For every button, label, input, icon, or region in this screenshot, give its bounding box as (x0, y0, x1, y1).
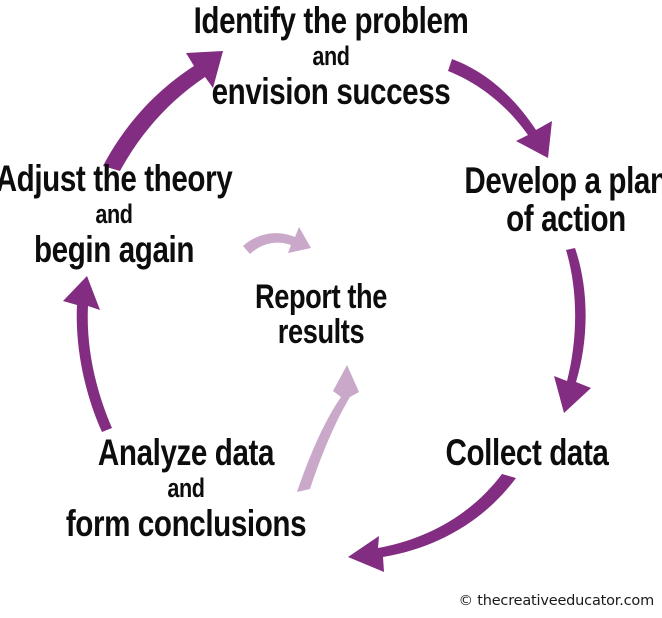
step-report-sub: results (177, 315, 465, 350)
arrow-collect-to-analyze (348, 474, 516, 572)
arrow-analyze-to-adjust (63, 276, 112, 432)
step-analyze-sub: form conclusions (10, 505, 362, 543)
step-identify-main: Identify the problem (123, 2, 539, 40)
step-label-collect: Collect data (367, 434, 662, 472)
step-adjust-sub: begin again (0, 231, 306, 269)
step-label-analyze: Analyze data and form conclusions (10, 434, 362, 544)
step-analyze-conj: and (10, 472, 362, 505)
arrow-develop-to-collect (554, 248, 591, 413)
step-label-adjust: Adjust the theory and begin again (0, 160, 306, 270)
step-develop-main: Develop a plan (394, 162, 662, 200)
step-adjust-main: Adjust the theory (0, 160, 306, 198)
copyright-notice: © thecreativeeducator.com (459, 593, 654, 609)
step-develop-sub: of action (394, 200, 662, 238)
diagram-canvas: Identify the problem and envision succes… (0, 0, 662, 618)
step-report-main: Report the (177, 280, 465, 315)
step-identify-conj: and (123, 40, 539, 73)
step-label-develop: Develop a plan of action (394, 162, 662, 239)
step-label-identify: Identify the problem and envision succes… (123, 2, 539, 112)
step-identify-sub: envision success (123, 73, 539, 111)
step-analyze-main: Analyze data (10, 434, 362, 472)
step-adjust-conj: and (0, 198, 306, 231)
step-collect-main: Collect data (367, 434, 662, 472)
step-label-report: Report the results (177, 280, 465, 351)
